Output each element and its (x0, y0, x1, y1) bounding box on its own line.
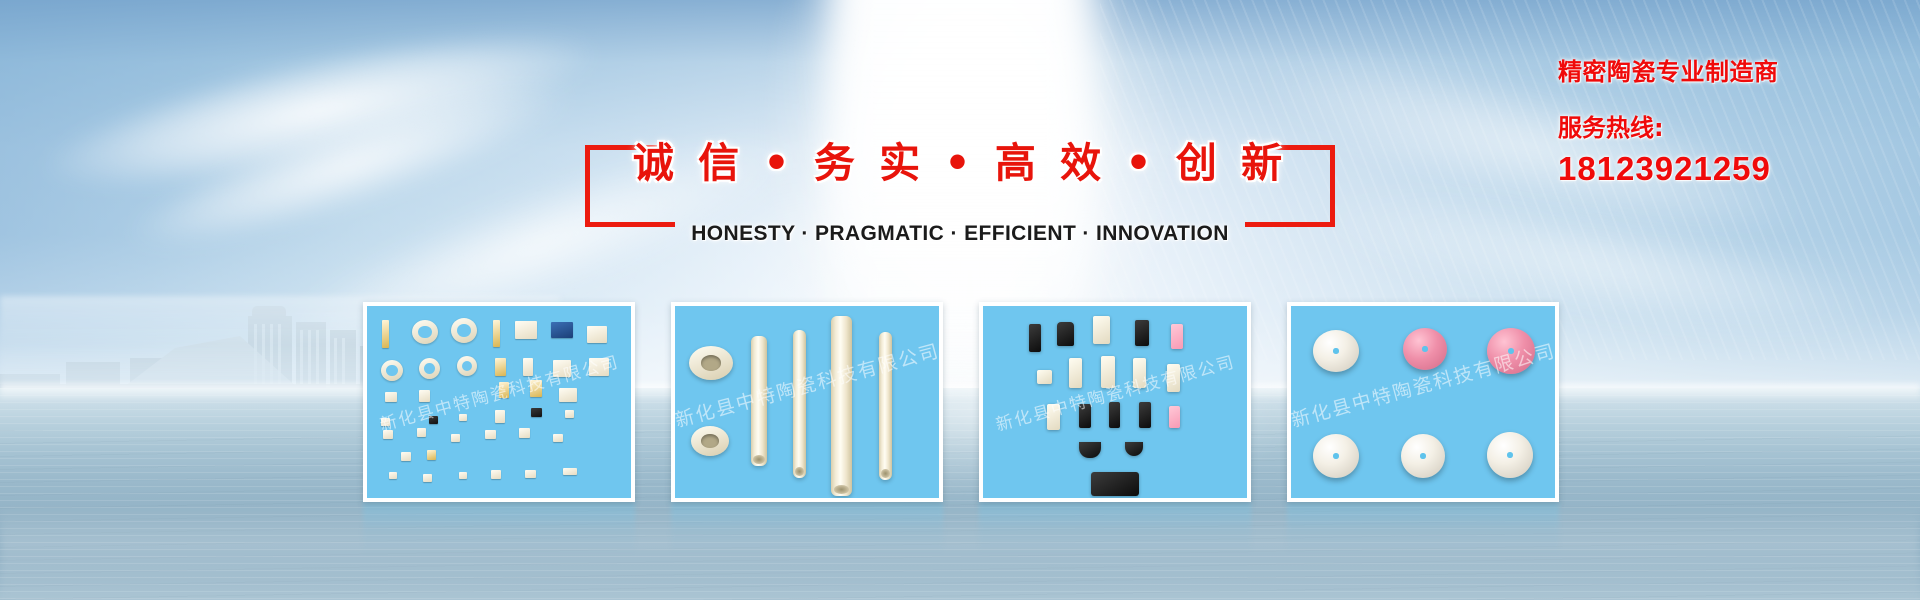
ceramic-rod (793, 330, 806, 478)
ceramic-arc (1079, 442, 1101, 458)
hotline-number[interactable]: 18123921259 (1558, 150, 1888, 188)
company-tagline: 精密陶瓷专业制造商 (1558, 52, 1888, 87)
wet-surface-sheen (0, 505, 1920, 600)
ceramic-rod (879, 332, 892, 480)
ceramic-block (1135, 320, 1149, 346)
ceramic-plate (1091, 472, 1139, 496)
ceramic-part (519, 428, 530, 438)
ceramic-block (1109, 402, 1120, 428)
product-panel-ceramic-blocks[interactable]: 新化县中特陶瓷科技有限公司 (979, 302, 1251, 502)
ceramic-part (530, 380, 542, 397)
ceramic-block (1101, 356, 1115, 388)
ceramic-block (1037, 370, 1052, 384)
ceramic-ring (691, 426, 729, 456)
ceramic-arc (1125, 442, 1143, 456)
ceramic-part (587, 326, 607, 343)
ceramic-part (423, 474, 432, 482)
ceramic-part (429, 416, 438, 424)
ceramic-part (589, 358, 609, 376)
ceramic-part (427, 450, 436, 460)
ceramic-part (499, 382, 509, 398)
ceramic-block (1139, 402, 1151, 428)
ceramic-part (559, 388, 577, 402)
product-panel-ceramic-discs[interactable]: 新化县中特陶瓷科技有限公司 (1287, 302, 1559, 502)
ceramic-disc (1487, 432, 1533, 478)
ceramic-part (389, 472, 397, 479)
ceramic-part (419, 358, 440, 379)
ceramic-part (412, 320, 438, 344)
slogan-chinese: 诚 信 • 务 实 • 高 效 • 创 新 (585, 129, 1335, 189)
ceramic-part (451, 318, 477, 343)
ceramic-block (1047, 404, 1060, 430)
ceramic-part (523, 358, 533, 376)
ceramic-part (419, 390, 430, 402)
ceramic-part (485, 430, 496, 439)
ceramic-part (459, 414, 467, 421)
ceramic-block (1029, 324, 1041, 352)
panel-image-area: 新化县中特陶瓷科技有限公司 (1291, 306, 1555, 498)
ceramic-part (459, 472, 467, 479)
ceramic-part (491, 470, 501, 479)
ceramic-block (1171, 324, 1183, 349)
slogan-english: HONESTY · PRAGMATIC · EFFICIENT · INNOVA… (585, 222, 1335, 246)
ceramic-part (457, 356, 477, 376)
ceramic-disc (1401, 434, 1445, 478)
ceramic-part (531, 408, 542, 417)
hotline-label: 服务热线: (1558, 108, 1888, 143)
panel-reflection (1287, 502, 1559, 554)
panel-reflection (671, 502, 943, 554)
hero-banner: 诚 信 • 务 实 • 高 效 • 创 新 HONESTY · PRAGMATI… (0, 0, 1920, 600)
ceramic-part (495, 410, 505, 423)
ceramic-disc (1313, 330, 1359, 372)
ceramic-part (553, 434, 563, 442)
ceramic-block (1057, 322, 1074, 346)
ceramic-block (1069, 358, 1082, 388)
contact-block: 精密陶瓷专业制造商 服务热线: 18123921259 (1558, 52, 1888, 188)
ceramic-part (451, 434, 460, 442)
panel-image-area: 新化县中特陶瓷科技有限公司 (675, 306, 939, 498)
ceramic-part (525, 470, 536, 478)
ceramic-disc (1487, 328, 1535, 374)
ceramic-part (515, 321, 537, 339)
product-panel-group: 新化县中特陶瓷科技有限公司 新化县中特陶瓷科技有限公司 (363, 302, 1563, 502)
panel-image-area: 新化县中特陶瓷科技有限公司 (983, 306, 1247, 498)
ceramic-part (381, 360, 403, 381)
slogan-block: 诚 信 • 务 实 • 高 效 • 创 新 HONESTY · PRAGMATI… (585, 145, 1335, 230)
ceramic-part (565, 410, 574, 418)
ceramic-tube (831, 316, 852, 496)
ceramic-block (1093, 316, 1110, 344)
ceramic-part (493, 320, 500, 347)
panel-image-area: 新化县中特陶瓷科技有限公司 (367, 306, 631, 498)
ceramic-part (417, 428, 426, 437)
ceramic-block (1133, 358, 1146, 388)
ceramic-part (385, 392, 397, 402)
ceramic-part (553, 360, 571, 377)
ceramic-part (381, 418, 390, 426)
product-panel-smd-chip-components[interactable]: 新化县中特陶瓷科技有限公司 (363, 302, 635, 502)
panel-reflection (363, 502, 635, 554)
ceramic-tube (751, 336, 767, 466)
ceramic-part (495, 358, 506, 376)
ceramic-part (551, 322, 573, 338)
ceramic-disc (1403, 328, 1447, 370)
ceramic-disc (1313, 434, 1359, 478)
ceramic-part (563, 468, 577, 475)
ceramic-ring (689, 346, 733, 380)
ceramic-block (1169, 406, 1180, 428)
ceramic-part (382, 320, 389, 348)
panel-reflection (979, 502, 1251, 554)
ceramic-part (383, 430, 393, 439)
ceramic-block (1079, 404, 1091, 428)
product-panel-ceramic-tubes-rods[interactable]: 新化县中特陶瓷科技有限公司 (671, 302, 943, 502)
ceramic-block (1167, 364, 1180, 392)
ceramic-part (401, 452, 411, 461)
